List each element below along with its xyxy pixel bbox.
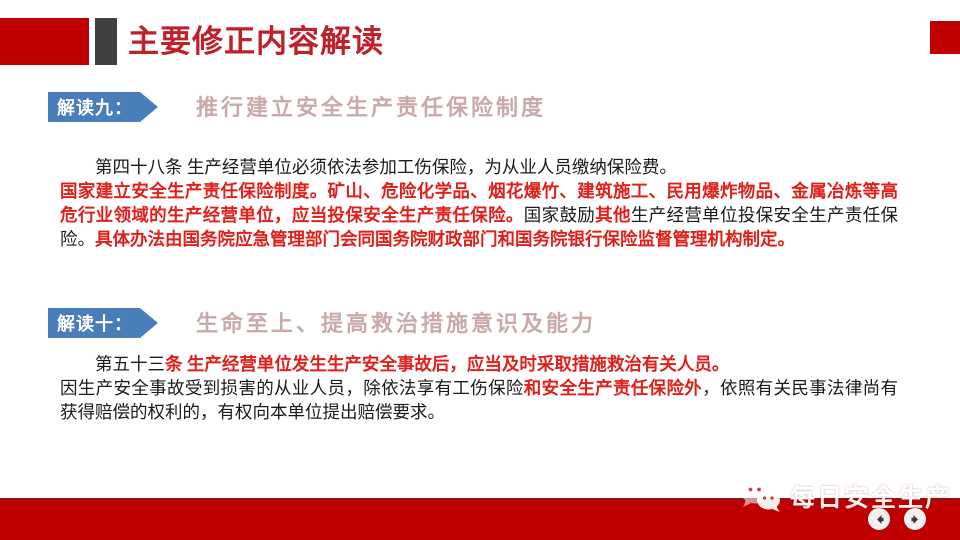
section-nine-badge: 解读九：	[48, 92, 158, 122]
slide-nav-buttons	[868, 508, 926, 530]
next-arrow-icon[interactable]	[904, 508, 926, 530]
header-corner-red-block	[930, 21, 960, 54]
text-run: 第四十八条 生产经营单位必须依法参加工伤保险，为从业人员缴纳保险费。	[95, 157, 677, 177]
text-run: 国家鼓励	[524, 205, 595, 225]
section-ten-header: 解读十： 生命至上、提高救治措施意识及能力	[0, 308, 960, 344]
section-nine-badge-arrow-icon	[140, 92, 158, 122]
text-run: 因生产安全事故受到损害的从业人员，除依法享有工伤保险	[60, 378, 524, 398]
section-ten-badge-body: 解读十：	[48, 308, 140, 338]
prev-arrow-icon[interactable]	[868, 508, 890, 530]
section-nine-header: 解读九： 推行建立安全生产责任保险制度	[0, 92, 960, 128]
section-ten-badge-label: 解读十：	[57, 310, 133, 336]
highlighted-text-run: 和安全生产责任保险外	[524, 378, 702, 398]
section-nine-subtitle: 推行建立安全生产责任保险制度	[196, 90, 546, 122]
paragraph: 国家建立安全生产责任保险制度。矿山、危险化学品、烟花爆竹、建筑施工、民用爆炸物品…	[60, 179, 898, 251]
highlighted-text-run: 其他	[595, 205, 631, 225]
section-nine: 解读九： 推行建立安全生产责任保险制度	[0, 92, 960, 128]
section-ten-badge: 解读十：	[48, 308, 158, 338]
section-ten-subtitle: 生命至上、提高救治措施意识及能力	[196, 306, 596, 338]
page-title: 主要修正内容解读	[128, 16, 384, 61]
paragraph: 第五十三条 生产经营单位发生生产安全事故后，应当及时采取措施救治有关人员。	[60, 352, 898, 376]
section-ten-body: 第五十三条 生产经营单位发生生产安全事故后，应当及时采取措施救治有关人员。因生产…	[60, 352, 898, 424]
wechat-icon	[740, 479, 782, 513]
section-nine-badge-body: 解读九：	[48, 92, 140, 122]
section-ten-badge-arrow-icon	[140, 308, 158, 338]
highlighted-text-run: 条 生产经营单位发生生产安全事故后，应当及时采取措施救治有关人员。	[165, 354, 729, 374]
section-ten: 解读十： 生命至上、提高救治措施意识及能力	[0, 308, 960, 344]
slide-canvas: 主要修正内容解读 解读九： 推行建立安全生产责任保险制度 第四十八条 生产经营单…	[0, 0, 960, 540]
header-gray-block	[95, 18, 117, 65]
section-nine-body: 第四十八条 生产经营单位必须依法参加工伤保险，为从业人员缴纳保险费。国家建立安全…	[60, 155, 898, 251]
paragraph: 因生产安全事故受到损害的从业人员，除依法享有工伤保险和安全生产责任保险外，依照有…	[60, 376, 898, 424]
header-red-block	[0, 18, 89, 65]
paragraph: 第四十八条 生产经营单位必须依法参加工伤保险，为从业人员缴纳保险费。	[60, 155, 898, 179]
text-run: 第五十三	[95, 354, 165, 374]
section-nine-badge-label: 解读九：	[57, 94, 133, 120]
highlighted-text-run: 具体办法由国务院应急管理部门会同国务院财政部门和国务院银行保险监督管理机构制定。	[95, 229, 795, 249]
